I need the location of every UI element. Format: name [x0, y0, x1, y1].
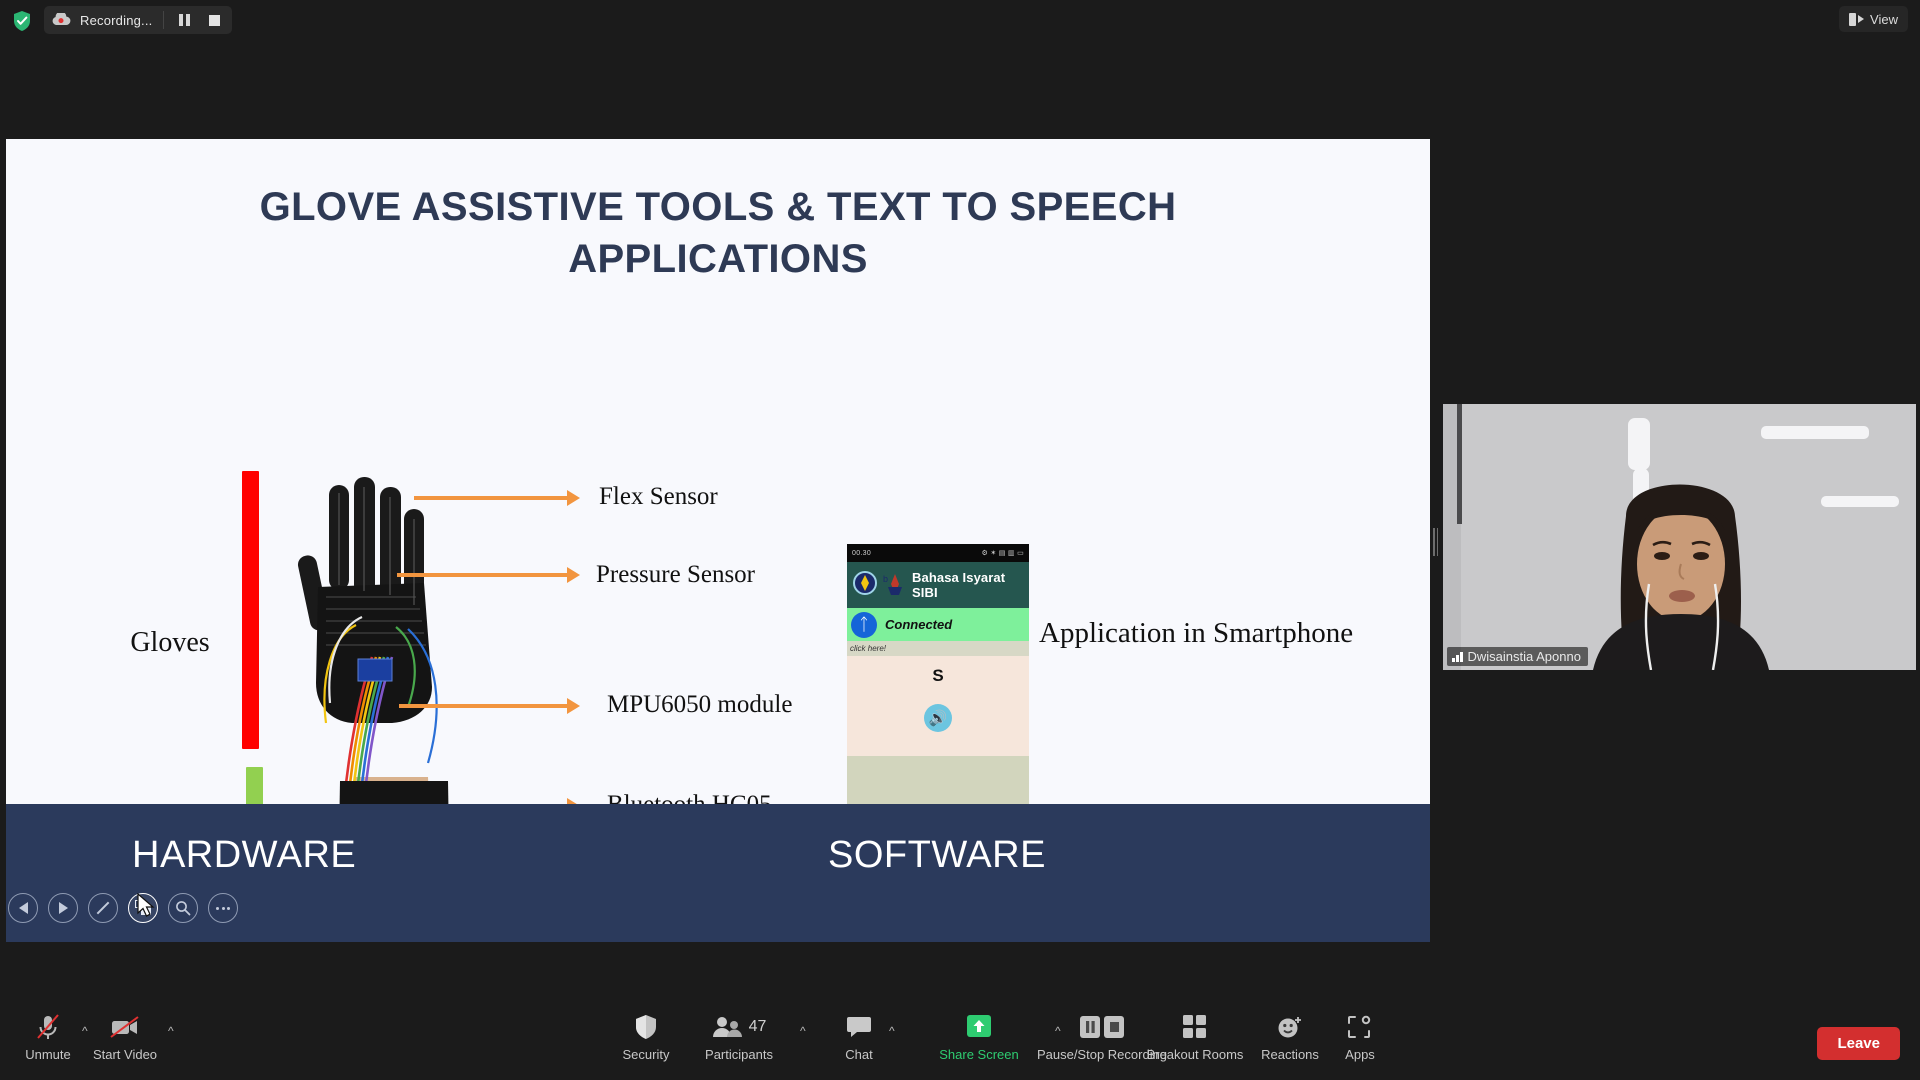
shared-screen-slide: GLOVE ASSISTIVE TOOLS & TEXT TO SPEECH A…	[6, 139, 1430, 942]
share-screen-icon	[965, 1012, 993, 1042]
callout-arrow-mpu6050	[399, 704, 568, 708]
phone-app-title: Bahasa Isyarat SIBI	[912, 570, 1024, 600]
signal-bars-icon	[1452, 651, 1463, 662]
triangle-left-icon	[19, 902, 28, 914]
callout-label-mpu6050: MPU6050 module	[607, 691, 792, 719]
meeting-control-bar: Unmute ^ Start Video ^ Security	[0, 988, 1920, 1080]
reactions-icon	[1277, 1012, 1303, 1042]
previous-slide-button[interactable]	[8, 893, 38, 923]
phone-status-time: 00.30	[852, 550, 871, 557]
view-button[interactable]: View	[1839, 6, 1908, 32]
divider	[163, 11, 164, 29]
triangle-right-icon	[59, 902, 68, 914]
more-options-button[interactable]	[208, 893, 238, 923]
start-video-button[interactable]: Start Video	[79, 1012, 171, 1062]
security-shield-icon[interactable]	[10, 9, 34, 33]
leave-button[interactable]: Leave	[1817, 1027, 1900, 1060]
university-logo-icon	[852, 570, 878, 600]
view-button-label: View	[1870, 12, 1898, 27]
slide-content-area: GLOVE ASSISTIVE TOOLS & TEXT TO SPEECH A…	[6, 139, 1430, 804]
shield-icon	[634, 1012, 658, 1042]
annotate-pen-button[interactable]	[88, 893, 118, 923]
phone-status-bar: 00.30 ⚙ ✶ ▤ ▥ ▭	[847, 544, 1029, 562]
participants-button[interactable]: 47 Participants	[684, 1012, 794, 1062]
participants-label: Participants	[705, 1047, 773, 1062]
phone-recognized-letter: S	[847, 666, 1029, 686]
legend-label-gloves: Gloves	[110, 627, 230, 659]
participants-caret[interactable]: ^	[800, 1024, 806, 1038]
recording-indicator-pill: Recording...	[44, 6, 232, 34]
recording-top-bar: Recording... View	[0, 0, 1920, 40]
slides-icon	[135, 900, 152, 916]
breakout-rooms-label: Breakout Rooms	[1147, 1047, 1244, 1062]
slide-annotation-toolbar	[8, 893, 238, 923]
callout-arrow-flex-sensor	[414, 496, 568, 500]
phone-output-area: S 🔊	[847, 656, 1029, 756]
pen-icon	[97, 902, 110, 915]
breakout-rooms-icon	[1183, 1012, 1207, 1042]
svg-text:b: b	[883, 574, 888, 584]
phone-connection-row[interactable]: ᛏ Connected	[847, 608, 1029, 641]
chat-label: Chat	[845, 1047, 872, 1062]
callout-arrow-pressure-sensor	[397, 573, 568, 577]
phone-app-header: b Bahasa Isyarat SIBI	[847, 562, 1029, 608]
participants-icon: 47	[712, 1012, 767, 1042]
reactions-label: Reactions	[1261, 1047, 1319, 1062]
participant-name-badge: Dwisainstia Aponno	[1447, 647, 1588, 666]
phone-connection-status: Connected	[885, 617, 952, 632]
start-video-label: Start Video	[93, 1047, 157, 1062]
recording-status-text: Recording...	[80, 13, 153, 28]
pause-recording-button[interactable]	[174, 9, 196, 31]
bluetooth-icon: ᛏ	[851, 612, 877, 638]
phone-hint-row: click here!	[847, 641, 1029, 656]
participant-count: 47	[749, 1018, 767, 1036]
pause-icon	[179, 14, 190, 26]
cloud-recording-icon	[50, 9, 72, 31]
phone-status-icons: ⚙ ✶ ▤ ▥ ▭	[982, 549, 1024, 557]
video-feed	[1443, 404, 1916, 670]
microphone-muted-icon	[35, 1012, 61, 1042]
stop-icon	[209, 15, 220, 26]
ellipsis-icon	[216, 907, 230, 910]
speaker-icon[interactable]: 🔊	[924, 704, 952, 732]
security-label: Security	[623, 1047, 670, 1062]
chat-caret[interactable]: ^	[889, 1024, 895, 1038]
apps-button[interactable]: Apps	[1314, 1012, 1406, 1062]
unmute-label: Unmute	[25, 1047, 71, 1062]
zoom-meeting-window: Recording... View GLOVE ASSISTIVE TOOLS …	[0, 0, 1920, 1080]
apps-icon	[1347, 1012, 1373, 1042]
phone-hint-text: click here!	[850, 644, 886, 653]
callout-label-pressure-sensor: Pressure Sensor	[596, 561, 755, 589]
footer-label-software: SOFTWARE	[828, 834, 1046, 877]
participant-name: Dwisainstia Aponno	[1468, 649, 1581, 664]
video-options-caret[interactable]: ^	[168, 1024, 174, 1038]
magnifier-icon	[175, 900, 191, 916]
security-button[interactable]: Security	[600, 1012, 692, 1062]
slide-layout-button[interactable]	[128, 893, 158, 923]
callout-label-flex-sensor: Flex Sensor	[599, 483, 718, 511]
pause-stop-recording-icon	[1080, 1012, 1124, 1042]
video-panel-drag-handle[interactable]	[1433, 528, 1438, 556]
page-title: GLOVE ASSISTIVE TOOLS & TEXT TO SPEECH A…	[106, 181, 1330, 285]
footer-label-hardware: HARDWARE	[132, 834, 356, 877]
stop-recording-button[interactable]	[204, 9, 226, 31]
apps-label: Apps	[1345, 1047, 1375, 1062]
layout-view-icon	[1849, 13, 1864, 26]
chat-bubble-icon	[846, 1012, 872, 1042]
next-slide-button[interactable]	[48, 893, 78, 923]
application-caption: Application in Smartphone	[1039, 617, 1353, 650]
camera-muted-icon	[109, 1012, 141, 1042]
participant-video-tile[interactable]: Dwisainstia Aponno	[1443, 404, 1916, 670]
app-logo-icon: b	[882, 570, 908, 600]
legend-bar-gloves	[242, 471, 259, 749]
zoom-search-button[interactable]	[168, 893, 198, 923]
